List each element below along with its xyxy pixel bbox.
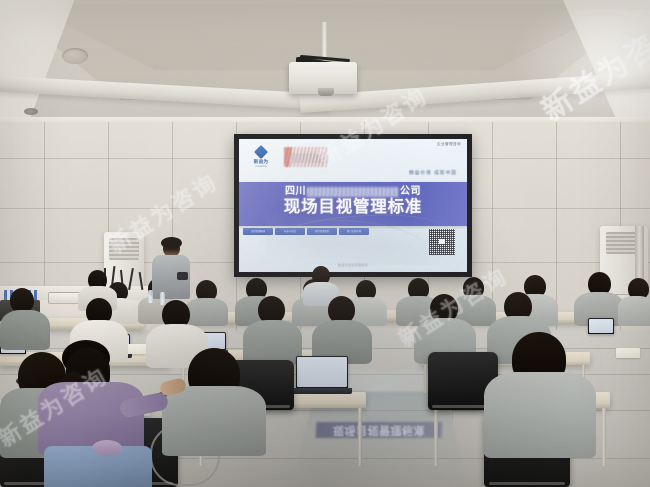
ac-vent [109, 238, 139, 260]
slide-decorative-art-2 [291, 153, 327, 163]
floor-reflection-text: 现场目视管理标准 [316, 423, 443, 439]
qr-code-icon [429, 229, 455, 255]
logo-wordmark: 新益为 [248, 160, 274, 165]
ceiling-speaker [62, 48, 88, 64]
presenter-remote [177, 272, 188, 280]
belt-detail [92, 440, 122, 456]
slide-title-suffix: 公司 [400, 187, 421, 197]
slide-title-prefix: 四川 [285, 187, 306, 197]
projection-screen: 新益为 Consulting 企业管理咨询 精益价值 成就中国 四川 公司 现场… [239, 139, 467, 272]
diamond-logo-icon [254, 145, 268, 159]
ceiling-downlight [24, 108, 38, 115]
slide-title-redacted [307, 187, 399, 197]
window-glow [500, 10, 650, 140]
logo-subtext: Consulting [248, 166, 274, 168]
slide-tagline: 精益价值 成就中国 [409, 170, 457, 176]
slide-subtitle-row: 四川 公司 [239, 185, 467, 198]
projector-lens [318, 88, 334, 96]
paper-document [616, 348, 640, 358]
water-bottle [148, 290, 153, 303]
water-bottle [160, 292, 165, 305]
slide-top-right-note: 企业管理咨询 [437, 142, 461, 147]
photo-scene: 新益为 Consulting 企业管理咨询 精益价值 成就中国 四川 公司 现场… [0, 0, 650, 487]
slide-footer: 新益为企业管理咨询 [239, 263, 467, 267]
equipment-box [48, 292, 82, 304]
projection-screen-frame: 新益为 Consulting 企业管理咨询 精益价值 成就中国 四川 公司 现场… [234, 134, 472, 277]
slide-logo: 新益为 Consulting [248, 147, 274, 169]
